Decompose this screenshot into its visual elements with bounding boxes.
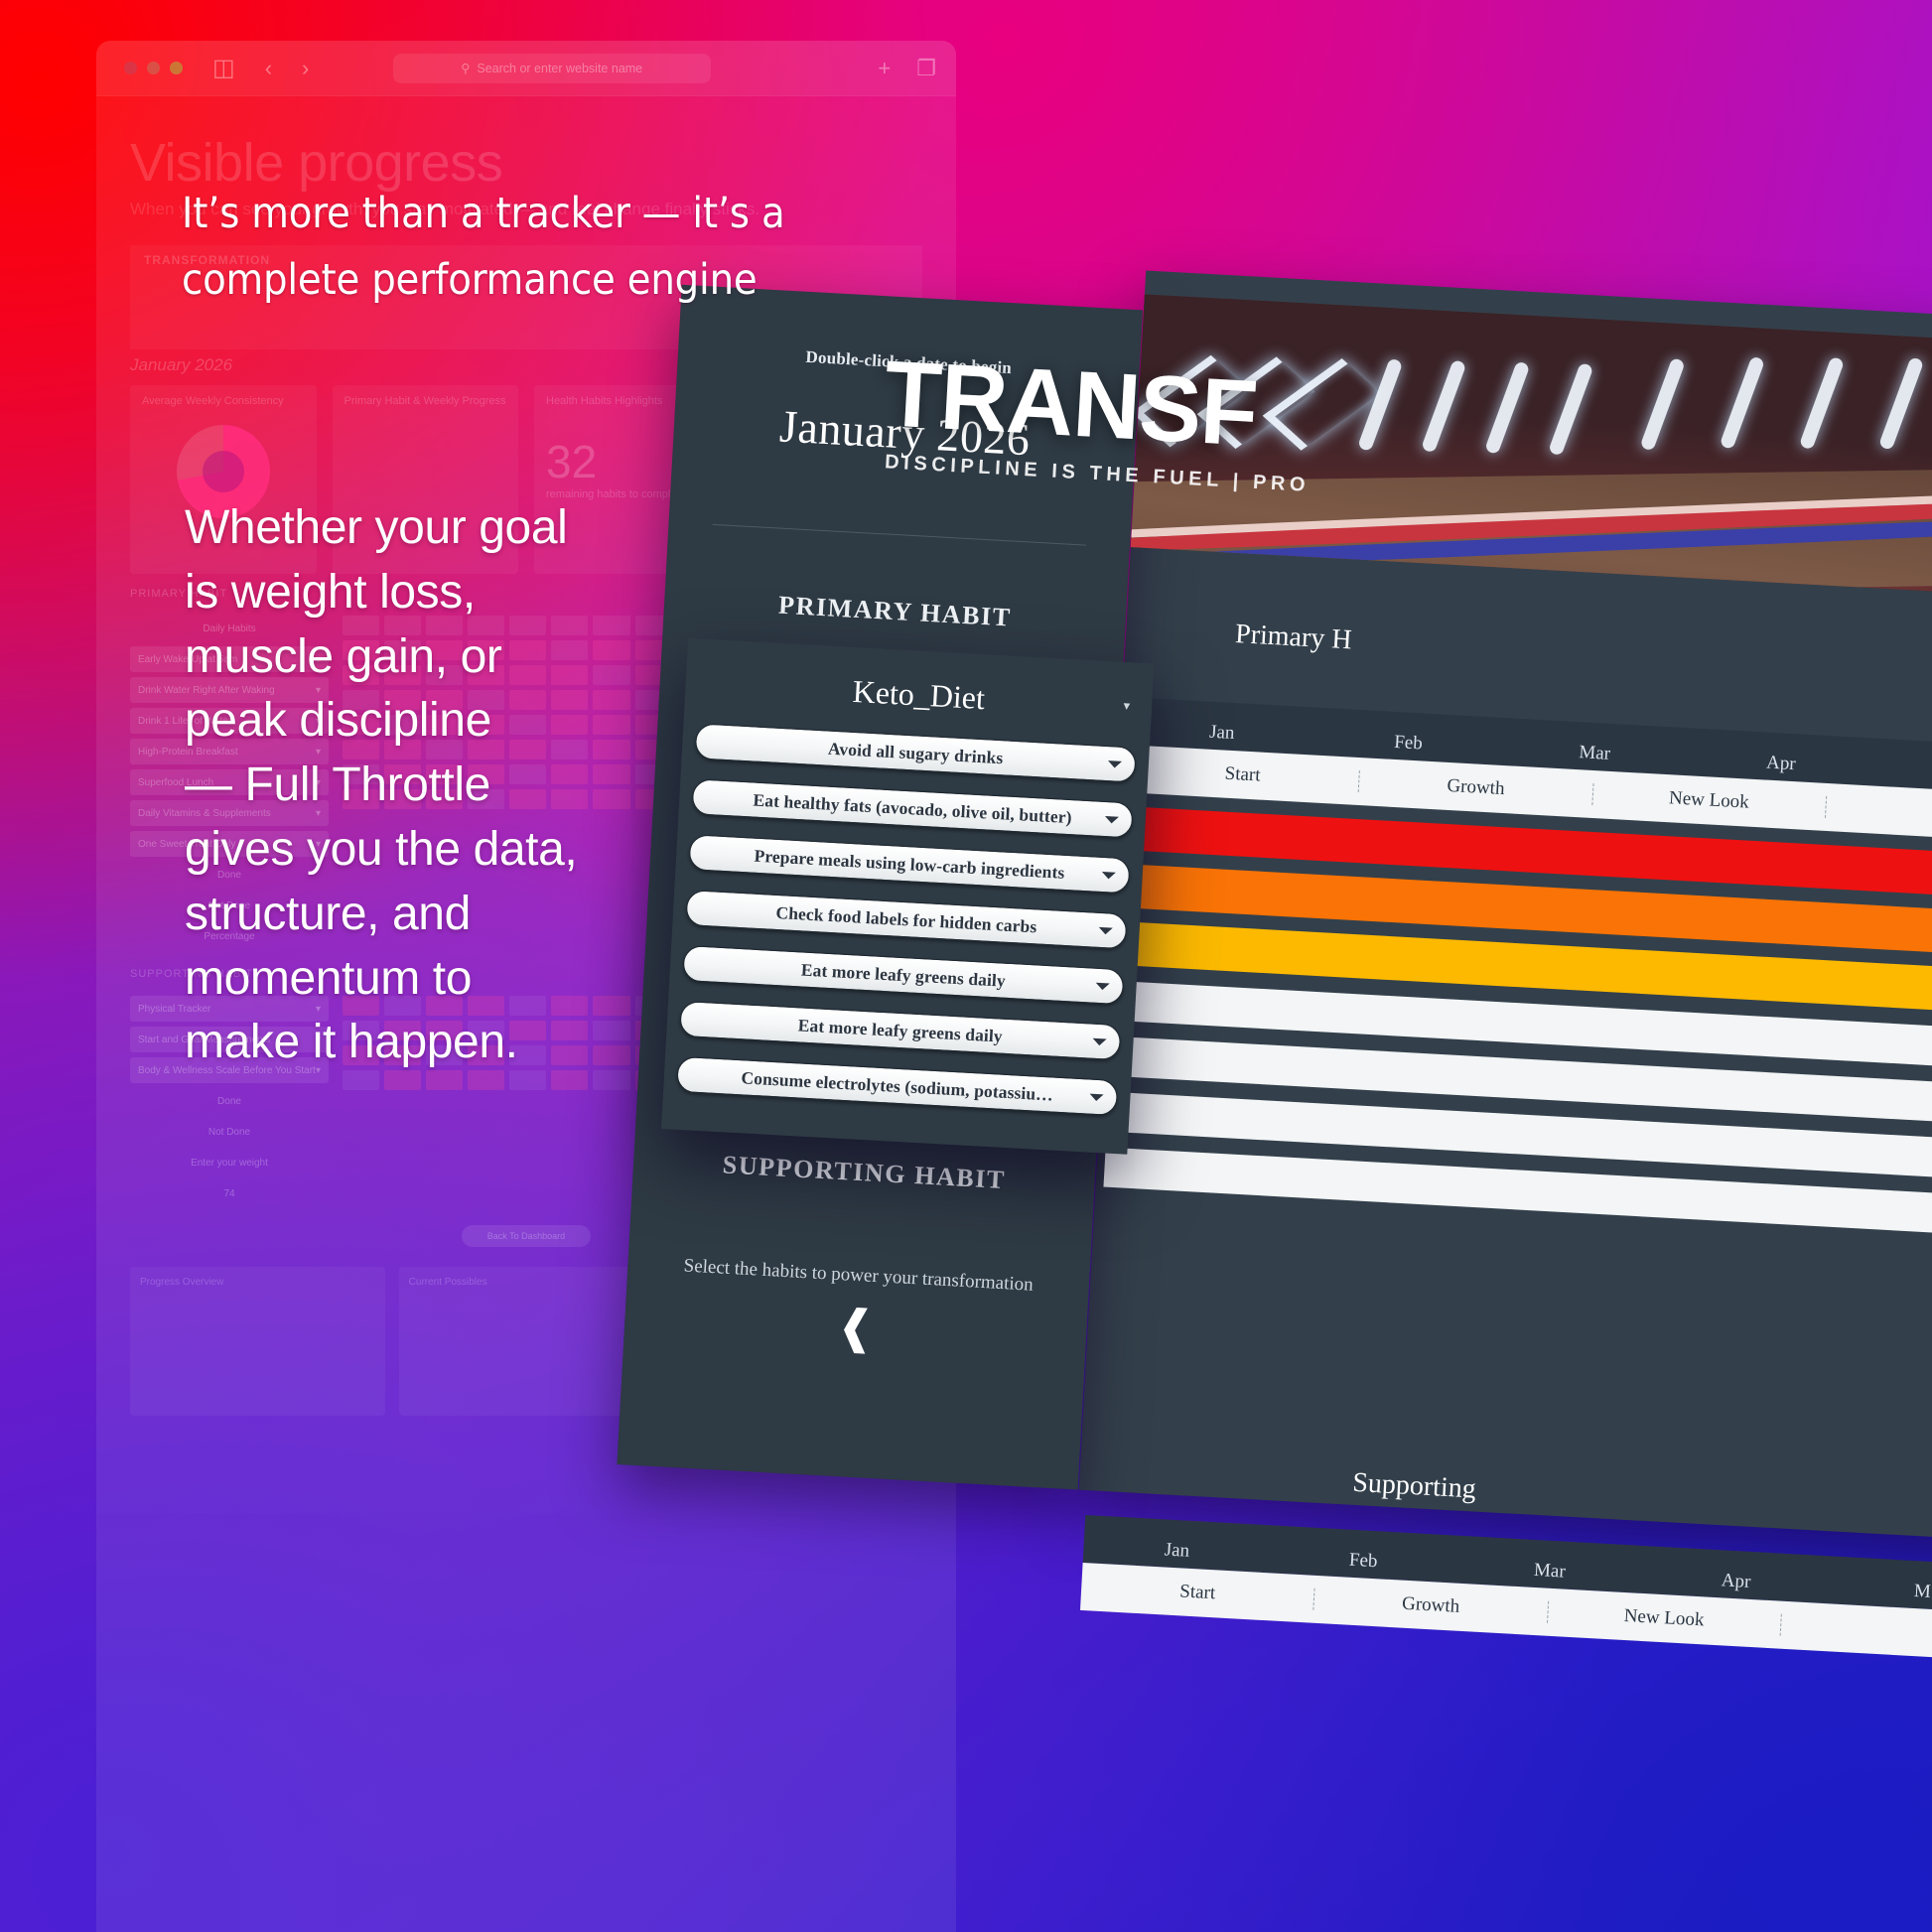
bg-card: Progress Overview: [130, 1267, 385, 1416]
month-phase-cell: Growth: [1359, 770, 1593, 805]
promo-headline: It’s more than a tracker — it’s a comple…: [182, 181, 897, 313]
habit-option-row[interactable]: Eat more leafy greens daily: [679, 1001, 1121, 1060]
month-header-cell: Jan: [1128, 717, 1315, 749]
bg-weight-value: 74: [130, 1180, 329, 1206]
neon-bar-icon: [1878, 356, 1924, 451]
primary-habit-heading: PRIMARY HABIT: [664, 584, 1127, 639]
habit-option-label: Check food labels for hidden carbs: [775, 901, 1037, 936]
app-screenshot-composite: TRANSF DISCIPLINE IS THE FUEL | PRO Prim…: [583, 243, 1932, 1541]
window-traffic-lights[interactable]: [124, 62, 183, 74]
bg-tally-done: Done: [130, 1088, 329, 1114]
promo-body-line: — Full Throttle: [185, 754, 651, 818]
promo-body-line: structure, and: [185, 883, 651, 947]
bg-kpi-title: Primary Habit & Weekly Progress: [345, 395, 506, 407]
maximize-green-icon[interactable]: [170, 62, 183, 74]
promo-body-line: gives you the data,: [185, 818, 651, 883]
month-phase-cell: [1826, 807, 1932, 820]
promo-body-line: momentum to: [185, 947, 651, 1012]
habit-option-label: Eat more leafy greens daily: [797, 1015, 1003, 1046]
promo-body-line: peak discipline: [185, 689, 651, 754]
month-header-cell: Mar: [1501, 738, 1689, 769]
close-red-icon[interactable]: [124, 62, 137, 74]
bg-weight-label: Enter your weight: [130, 1150, 329, 1175]
month-phase-cell: New Look: [1592, 783, 1827, 818]
habit-option-row[interactable]: Eat healthy fats (avocado, olive oil, bu…: [691, 778, 1133, 838]
omnibox-placeholder: Search or enter website name: [477, 62, 642, 75]
month-header-cell: Jan: [1083, 1535, 1271, 1567]
primary-month-table: Jan Feb Mar Apr M Start Growth New Look: [1103, 697, 1932, 1238]
month-header-cell: Feb: [1314, 728, 1502, 759]
bg-card-title: Current Possibles: [409, 1277, 487, 1288]
month-phase-cell: Start: [1126, 758, 1360, 792]
forward-button[interactable]: ›: [302, 58, 309, 79]
promo-stage: ◫ ‹ › ⚲ Search or enter website name + ❐…: [0, 0, 1932, 1932]
supporting-habit-caption: Supporting: [1352, 1467, 1477, 1506]
neon-bar-icon: [1484, 360, 1530, 455]
chevron-down-icon[interactable]: [1098, 927, 1112, 935]
habit-option-row[interactable]: Eat more leafy greens daily: [682, 945, 1124, 1005]
select-habits-note: Select the habits to power your transfor…: [627, 1252, 1090, 1300]
habit-option-label: Eat healthy fats (avocado, olive oil, bu…: [753, 789, 1072, 828]
promo-body-copy: Whether your goal is weight loss, muscle…: [185, 496, 651, 1075]
supporting-habit-heading: SUPPORTING HABIT: [632, 1145, 1095, 1200]
promo-body-line: is weight loss,: [185, 561, 651, 625]
minimize-yellow-icon[interactable]: [147, 62, 160, 74]
habit-option-label: Avoid all sugary drinks: [827, 738, 1003, 768]
month-phase-cell: [1781, 1625, 1932, 1638]
neon-bar-icon: [1720, 355, 1765, 450]
bg-card-title: Progress Overview: [140, 1277, 223, 1288]
habit-option-list: Avoid all sugary drinks Eat healthy fats…: [663, 701, 1151, 1117]
chevron-down-icon[interactable]: ❰: [624, 1296, 1087, 1357]
month-phase-cell: Growth: [1314, 1588, 1549, 1623]
month-header-cell: Apr: [1642, 1566, 1830, 1597]
habit-dropdown-card: Keto_Diet ▾ Avoid all sugary drinks Eat …: [661, 638, 1154, 1155]
neon-bar-icon: [1421, 359, 1466, 454]
browser-chrome: ◫ ‹ › ⚲ Search or enter website name + ❐: [96, 41, 956, 96]
month-header-cell: Mar: [1455, 1556, 1643, 1587]
new-tab-button[interactable]: +: [878, 58, 891, 79]
neon-bar-icon: [1640, 357, 1686, 452]
chevron-down-icon[interactable]: [1089, 1094, 1103, 1102]
habit-preset-value: Keto_Diet: [852, 673, 986, 716]
sidebar-icon[interactable]: ◫: [212, 57, 235, 80]
omnibox[interactable]: ⚲ Search or enter website name: [393, 54, 711, 83]
banner-title: TRANSF: [882, 340, 1260, 467]
month-phase-cell: New Look: [1547, 1601, 1781, 1636]
primary-habit-caption: Primary H: [1234, 619, 1352, 656]
month-phase-cell: Start: [1081, 1576, 1315, 1610]
bg-back-to-dashboard-button[interactable]: Back To Dashboard: [462, 1225, 591, 1247]
neon-bar-icon: [1799, 356, 1845, 451]
bg-tally-notdone: Not Done: [130, 1119, 329, 1145]
tab-overview-icon[interactable]: ❐: [916, 58, 936, 79]
month-header-cell: Apr: [1687, 748, 1874, 779]
month-header-cell: M: [1829, 1576, 1932, 1607]
habit-option-row[interactable]: Consume electrolytes (sodium, potassiu…: [676, 1056, 1118, 1116]
month-header-cell: M: [1873, 759, 1932, 790]
habit-option-label: Prepare meals using low-carb ingredients: [754, 845, 1065, 883]
habit-option-row[interactable]: Avoid all sugary drinks: [695, 723, 1137, 782]
habit-option-row[interactable]: Prepare meals using low-carb ingredients: [688, 834, 1130, 894]
chevron-down-icon[interactable]: [1095, 983, 1109, 991]
promo-body-line: muscle gain, or: [185, 625, 651, 690]
chevron-down-icon[interactable]: [1105, 816, 1119, 824]
habit-option-label: Eat more leafy greens daily: [800, 959, 1006, 991]
search-icon: ⚲: [461, 61, 470, 75]
month-header-cell: Feb: [1270, 1545, 1457, 1577]
bg-kpi-title: Average Weekly Consistency: [142, 395, 284, 407]
neon-bar-icon: [1548, 362, 1593, 457]
habit-option-row[interactable]: Check food labels for hidden carbs: [685, 890, 1127, 949]
divider: [712, 524, 1085, 546]
chevron-down-icon[interactable]: [1108, 760, 1122, 768]
promo-body-line: Whether your goal: [185, 496, 651, 561]
back-button[interactable]: ‹: [265, 58, 272, 79]
chevron-down-icon[interactable]: ▾: [1123, 698, 1130, 714]
chevron-down-icon[interactable]: [1102, 872, 1116, 880]
habit-option-label: Consume electrolytes (sodium, potassiu…: [741, 1067, 1053, 1105]
chevron-down-icon[interactable]: [1092, 1038, 1106, 1046]
promo-body-line: make it happen.: [185, 1011, 651, 1075]
